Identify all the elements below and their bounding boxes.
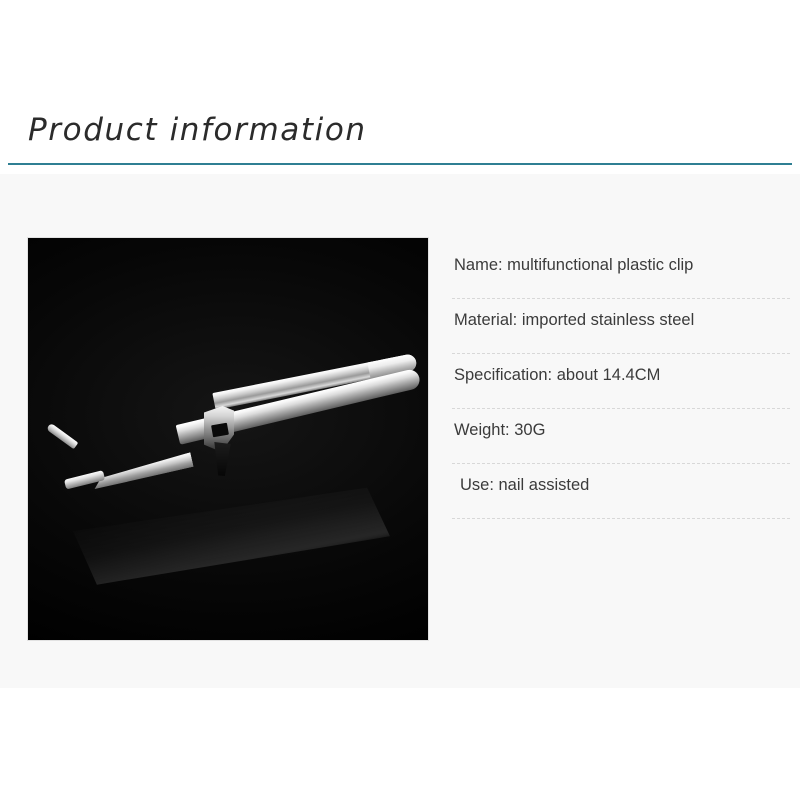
spec-text-use: Use: nail assisted (460, 476, 589, 495)
tweezers-illustration (28, 238, 428, 640)
product-image (28, 238, 428, 640)
specification-list: Name: multifunctional plastic clip Mater… (452, 244, 790, 519)
page-header: Product information (0, 0, 800, 172)
title-divider (8, 163, 792, 165)
spec-row-use: Use: nail assisted (452, 464, 790, 519)
spec-text-weight: Weight: 30G (454, 421, 545, 440)
spec-row-weight: Weight: 30G (452, 409, 790, 464)
product-information-page: Product information Name: multifunctiona… (0, 0, 800, 800)
tweezers-reflection (63, 451, 403, 596)
spec-row-specification: Specification: about 14.4CM (452, 354, 790, 409)
content-panel: Name: multifunctional plastic clip Mater… (0, 174, 800, 688)
spec-text-name: Name: multifunctional plastic clip (454, 256, 693, 275)
tweezers-bent-tip (46, 423, 78, 449)
page-title: Product information (28, 112, 367, 148)
spec-text-material: Material: imported stainless steel (454, 311, 694, 330)
spec-row-name: Name: multifunctional plastic clip (452, 244, 790, 299)
spec-row-material: Material: imported stainless steel (452, 299, 790, 354)
spec-text-specification: Specification: about 14.4CM (454, 366, 660, 385)
